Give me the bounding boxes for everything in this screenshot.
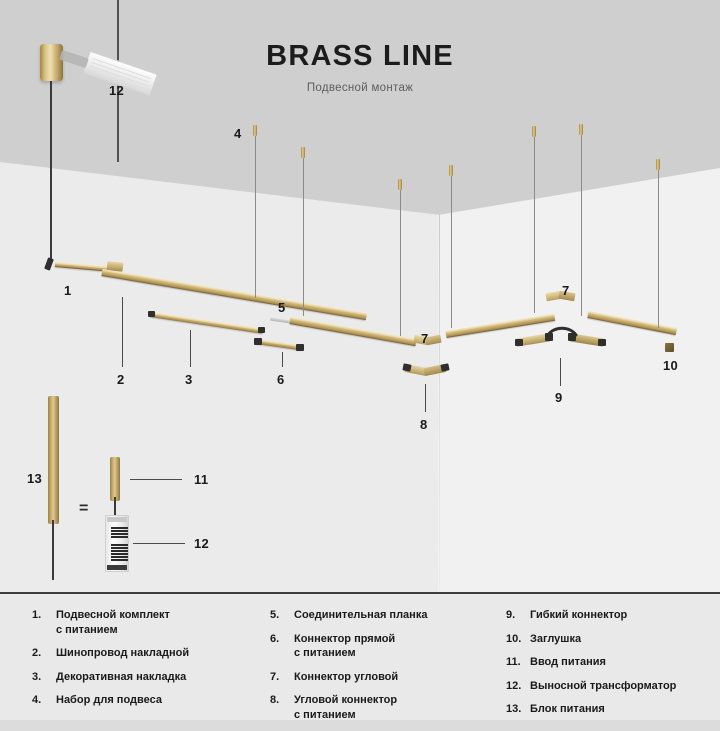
legend-item: 4. Набор для подвеса [32, 693, 262, 708]
callout-12-bottom: 12 [194, 536, 209, 551]
callout-8: 8 [420, 417, 428, 432]
legend-item: 9. Гибкий коннектор [506, 608, 720, 623]
leader-line-3 [190, 330, 191, 367]
legend-column-1: 1. Подвесной комплект с питанием 2. Шино… [0, 608, 262, 731]
legend-item-number: 8. [270, 693, 294, 708]
legend-item-number: 13. [506, 702, 530, 717]
legend-item-label: Гибкий коннектор [530, 608, 627, 623]
suspension-wire [303, 152, 304, 316]
legend-item-number: 9. [506, 608, 530, 623]
legend-item: 7. Коннектор угловой [270, 670, 498, 685]
suspension-cap [449, 165, 453, 176]
legend-item: 8. Угловой коннектор с питанием [270, 693, 498, 722]
suspension-cap [532, 126, 536, 137]
legend-item-label: Блок питания [530, 702, 605, 717]
callout-2: 2 [117, 372, 125, 387]
callout-9: 9 [555, 390, 563, 405]
legend-item-number: 1. [32, 608, 56, 623]
psu-fin [111, 544, 129, 546]
pendant-drop-cable [50, 81, 52, 261]
cover-end-cap [148, 311, 155, 317]
legend-item-number: 12. [506, 679, 530, 694]
corner-power-connector [405, 364, 445, 380]
legend-item: 3. Декоративная накладка [32, 670, 262, 685]
legend-item-label: Подвесной комплект с питанием [56, 608, 170, 637]
suspension-wire [400, 184, 401, 336]
legend-item: 2. Шинопровод накладной [32, 646, 262, 661]
legend-item-number: 3. [32, 670, 56, 685]
legend-column-3: 9. Гибкий коннектор 10. Заглушка 11. Вво… [498, 608, 720, 731]
psu-bottom-band [107, 565, 127, 570]
callout-13: 13 [27, 471, 42, 486]
suspension-cap [579, 124, 583, 135]
legend-columns: 1. Подвесной комплект с питанием 2. Шино… [0, 608, 720, 731]
legend-item: 10. Заглушка [506, 632, 720, 647]
legend-item-number: 11. [506, 655, 530, 670]
legend-item: 6. Коннектор прямой с питанием [270, 632, 498, 661]
psu-fin [111, 530, 129, 532]
legend-item-number: 4. [32, 693, 56, 708]
legend-item-label: Заглушка [530, 632, 581, 647]
callout-10: 10 [663, 358, 678, 373]
legend-item: 13. Блок питания [506, 702, 720, 717]
psu-fin [111, 536, 129, 538]
psu-top-band [107, 517, 127, 522]
psu-fin [111, 553, 129, 555]
end-cap [665, 343, 674, 352]
suspension-wire [255, 130, 256, 298]
corner-power-end-cap [440, 363, 449, 371]
callout-1: 1 [64, 283, 72, 298]
suspension-wire [658, 164, 659, 328]
legend-item: 12. Выносной трансформатор [506, 679, 720, 694]
remote-transformer-box [105, 515, 129, 572]
product-diagram-page: 12 4 1 2 [0, 0, 720, 720]
legend-item-label: Шинопровод накладной [56, 646, 189, 661]
equals-sign: = [79, 500, 88, 518]
legend-item: 11. Ввод питания [506, 655, 720, 670]
legend-item-number: 6. [270, 632, 294, 647]
legend-item-label: Выносной трансформатор [530, 679, 676, 694]
psu-fin [111, 559, 129, 561]
legend-item-label: Набор для подвеса [56, 693, 162, 708]
suspension-cap [301, 147, 305, 158]
legend-item-number: 7. [270, 670, 294, 685]
callout-4: 4 [234, 126, 242, 141]
suspension-wire [451, 170, 452, 328]
corner-connector-right [546, 290, 574, 304]
leader-line-6 [282, 352, 283, 367]
legend-item-number: 2. [32, 646, 56, 661]
leader-line-2 [122, 297, 123, 367]
leader-line-8 [425, 384, 426, 412]
headline-block: BRASS LINE Подвесной монтаж [0, 42, 720, 94]
legend-item-number: 5. [270, 608, 294, 623]
connector-end-cap [254, 338, 262, 345]
suspension-cap [253, 125, 257, 136]
legend-item-label: Декоративная накладка [56, 670, 186, 685]
flexible-connector-end-cap [598, 339, 606, 346]
corner-power-end-cap [402, 363, 411, 371]
callout-11: 11 [194, 472, 208, 487]
callout-6: 6 [277, 372, 285, 387]
suspension-cap [656, 159, 660, 170]
legend-item: 1. Подвесной комплект с питанием [32, 608, 262, 637]
flexible-connector-end-cap [515, 339, 523, 346]
psu-fin [111, 547, 129, 549]
legend-item-label: Коннектор прямой с питанием [294, 632, 395, 661]
leader-line-9 [560, 358, 561, 386]
suspension-cap [398, 179, 402, 190]
psu-fin [111, 550, 129, 552]
page-title: BRASS LINE [0, 42, 720, 71]
leader-line-12 [133, 543, 185, 544]
flexible-connector [516, 330, 604, 354]
legend-item: 5. Соединительная планка [270, 608, 498, 623]
legend-item-label: Угловой коннектор с питанием [294, 693, 397, 722]
callout-7-left: 7 [421, 331, 429, 346]
power-supply-rod [48, 396, 59, 524]
legend-panel: 1. Подвесной комплект с питанием 2. Шино… [0, 592, 720, 720]
legend-column-2: 5. Соединительная планка 6. Коннектор пр… [262, 608, 498, 731]
psu-fin [111, 556, 129, 558]
suspension-wire [534, 131, 535, 313]
connector-end-cap [296, 344, 304, 351]
page-subtitle: Подвесной монтаж [0, 82, 720, 94]
callout-3: 3 [185, 372, 193, 387]
cover-end-cap [258, 327, 265, 333]
legend-item-label: Соединительная планка [294, 608, 427, 623]
power-feed-rod [110, 457, 120, 501]
callout-5: 5 [278, 300, 286, 315]
wall-corner-edge [439, 214, 440, 592]
leader-line-11 [130, 479, 182, 480]
suspension-wire [581, 129, 582, 316]
legend-item-number: 10. [506, 632, 530, 647]
callout-7-right: 7 [562, 283, 570, 298]
psu-fin [111, 533, 129, 535]
psu-fin [111, 527, 129, 529]
legend-item-label: Ввод питания [530, 655, 606, 670]
legend-item-label: Коннектор угловой [294, 670, 398, 685]
flexible-cable-arc [546, 326, 578, 340]
power-supply-cable [52, 520, 54, 580]
